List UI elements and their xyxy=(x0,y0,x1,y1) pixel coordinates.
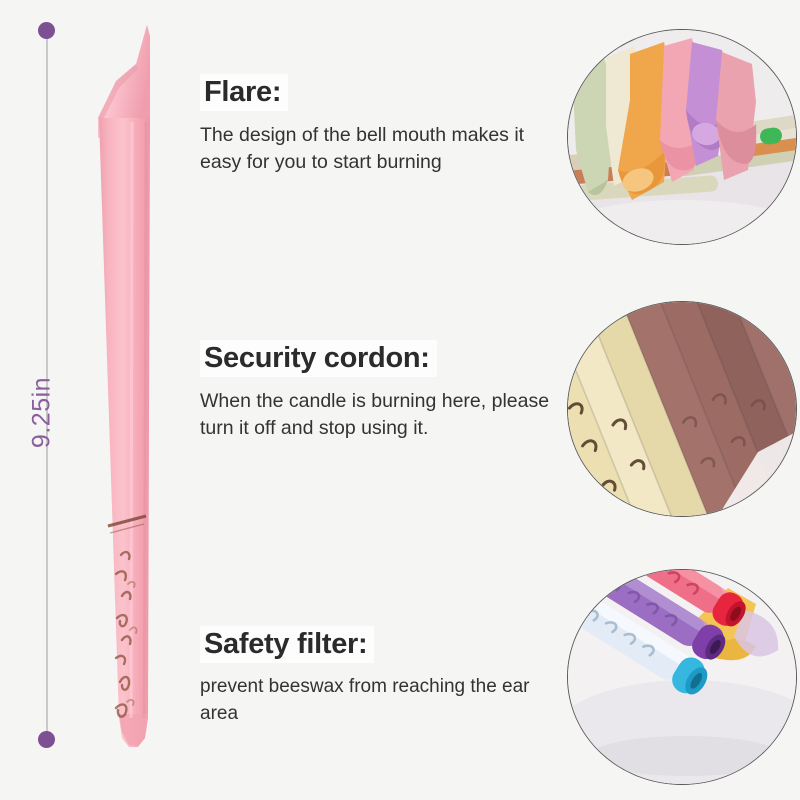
photo-flare xyxy=(567,29,797,245)
measurement-endpoint-bottom xyxy=(38,731,55,748)
feature-title-security-cordon: Security cordon: xyxy=(200,340,437,377)
candle-bottom-tip xyxy=(119,714,148,745)
photo-safety-filter xyxy=(567,569,797,785)
photo-flare-image xyxy=(568,30,796,244)
measurement-endpoint-top xyxy=(38,22,55,39)
feature-description-flare: The design of the bell mouth makes it ea… xyxy=(200,122,552,176)
feature-title-safety-filter: Safety filter: xyxy=(200,626,374,663)
feature-description-security-cordon: When the candle is burning here, please … xyxy=(200,388,552,442)
feature-description-safety-filter: prevent beeswax from reaching the ear ar… xyxy=(200,674,560,726)
feature-title-flare: Flare: xyxy=(200,74,288,111)
feature-block-safety-filter: Safety filter: prevent beeswax from reac… xyxy=(200,626,560,727)
ear-candle-illustration xyxy=(86,18,186,758)
infographic-page: 9.25in xyxy=(0,0,800,800)
feature-block-flare: Flare: The design of the bell mouth make… xyxy=(200,74,560,176)
photo-safety-filter-image xyxy=(568,570,796,784)
photo-security-cordon-image xyxy=(568,302,796,516)
photo-security-cordon xyxy=(567,301,797,517)
candle-shaft xyxy=(99,118,150,747)
feature-block-security-cordon: Security cordon: When the candle is burn… xyxy=(200,340,560,442)
measurement-label: 9.25in xyxy=(28,353,57,473)
